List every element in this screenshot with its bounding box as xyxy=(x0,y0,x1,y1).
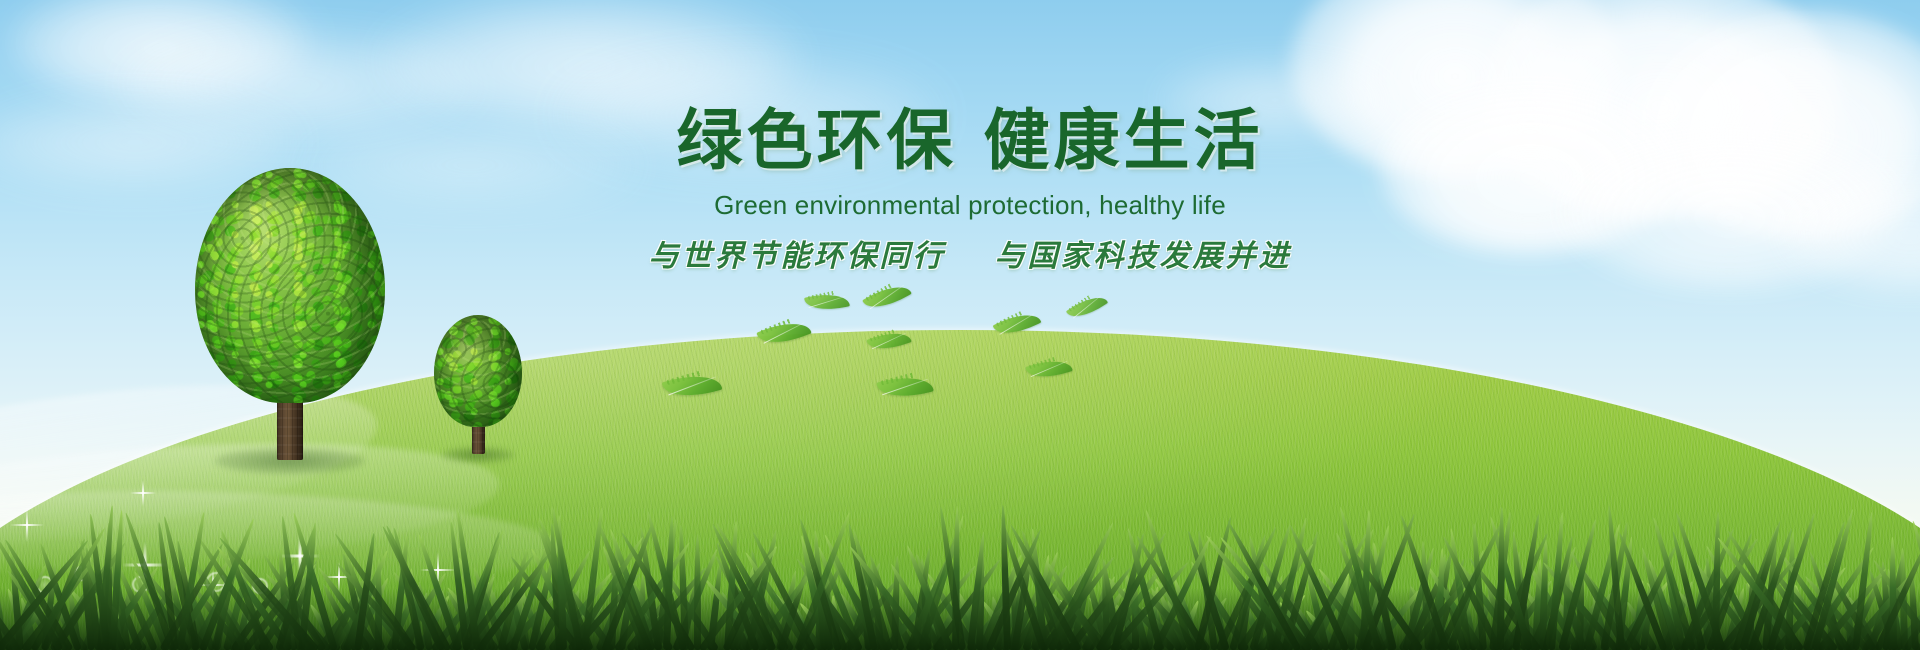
banner-text-block: 绿色环保 健康生活 Green environmental protection… xyxy=(620,105,1320,275)
banner-headline: 绿色环保 健康生活 xyxy=(620,105,1320,176)
grass-blade xyxy=(1888,537,1896,650)
small-tree-canopy xyxy=(434,315,522,427)
tagline-left: 与世界节能环保同行 xyxy=(649,239,946,274)
small-tree-canopy-detail xyxy=(434,315,522,427)
foreground-grass-band xyxy=(0,485,1920,650)
hero-banner: 绿色环保 健康生活 Green environmental protection… xyxy=(0,0,1920,650)
tagline-right: 与国家科技发展并进 xyxy=(994,239,1291,274)
banner-subtitle-english: Green environmental protection, healthy … xyxy=(620,190,1320,221)
banner-tagline: 与世界节能环保同行 与国家科技发展并进 xyxy=(620,231,1320,275)
grass-blade xyxy=(694,534,701,650)
